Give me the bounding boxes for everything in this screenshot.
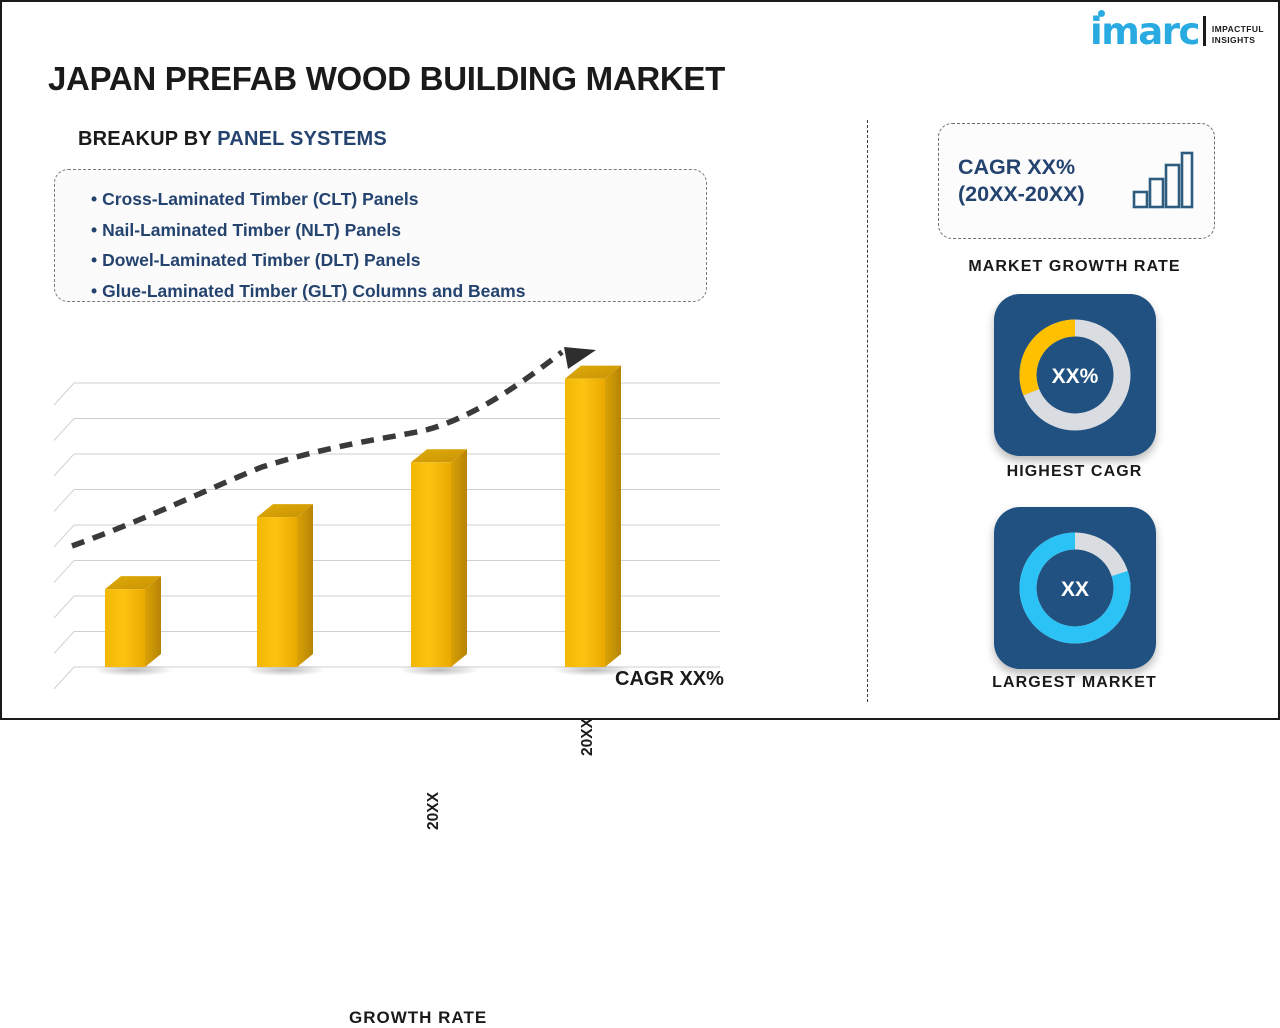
largest-market-caption: LARGEST MARKET bbox=[867, 674, 1280, 692]
segment-list-box: •Cross-Laminated Timber (CLT) Panels •Na… bbox=[54, 169, 707, 302]
cagr-line2: (20XX-20XX) bbox=[958, 181, 1085, 208]
growth-rate-chart: CAGR XX% GROWTH RATE 20XX 20XX bbox=[2, 327, 802, 722]
logo-tagline-line1: IMPACTFUL bbox=[1212, 24, 1264, 35]
trend-arrow-icon bbox=[72, 347, 596, 546]
breakup-heading: BREAKUP BY PANEL SYSTEMS bbox=[78, 128, 387, 151]
cagr-line1: CAGR XX% bbox=[958, 154, 1085, 181]
logo-wordmark: imarc bbox=[1090, 14, 1199, 49]
list-item-label: Glue-Laminated Timber (GLT) Columns and … bbox=[102, 281, 525, 301]
chart-svg bbox=[2, 327, 802, 722]
largest-market-value: XX bbox=[994, 578, 1156, 602]
logo-dot-icon bbox=[1098, 10, 1105, 17]
market-growth-rate-caption: MARKET GROWTH RATE bbox=[867, 258, 1280, 276]
chart-cagr-annotation: CAGR XX% bbox=[615, 668, 724, 691]
list-item-label: Nail-Laminated Timber (NLT) Panels bbox=[102, 220, 401, 240]
bar-label-3: 20XX bbox=[425, 790, 443, 830]
list-item: •Glue-Laminated Timber (GLT) Columns and… bbox=[91, 276, 706, 307]
bar-chart-icon bbox=[1132, 151, 1194, 214]
largest-market-card: XX bbox=[994, 507, 1156, 669]
logo-text: imarc bbox=[1090, 10, 1199, 53]
list-item: •Cross-Laminated Timber (CLT) Panels bbox=[91, 184, 706, 215]
list-item-label: Cross-Laminated Timber (CLT) Panels bbox=[102, 189, 418, 209]
bullet-icon: • bbox=[91, 189, 97, 209]
highest-cagr-caption: HIGHEST CAGR bbox=[867, 463, 1280, 481]
bullet-icon: • bbox=[91, 281, 97, 301]
panel-divider bbox=[867, 120, 868, 702]
imarc-logo: imarc IMPACTFUL INSIGHTS bbox=[1090, 14, 1264, 49]
bullet-icon: • bbox=[91, 220, 97, 240]
page-title: JAPAN PREFAB WOOD BUILDING MARKET bbox=[48, 60, 725, 98]
chart-x-axis-label: GROWTH RATE bbox=[349, 1008, 487, 1028]
bar-label-4: 20XX bbox=[579, 716, 597, 756]
list-item: •Dowel-Laminated Timber (DLT) Panels bbox=[91, 245, 706, 276]
list-item-label: Dowel-Laminated Timber (DLT) Panels bbox=[102, 250, 420, 270]
logo-tagline: IMPACTFUL INSIGHTS bbox=[1212, 24, 1264, 49]
list-item: •Nail-Laminated Timber (NLT) Panels bbox=[91, 215, 706, 246]
cagr-text: CAGR XX% (20XX-20XX) bbox=[958, 154, 1085, 208]
breakup-segment-name: PANEL SYSTEMS bbox=[217, 128, 387, 150]
logo-tagline-line2: INSIGHTS bbox=[1212, 35, 1264, 46]
highest-cagr-card: XX% bbox=[994, 294, 1156, 456]
market-growth-rate-box: CAGR XX% (20XX-20XX) bbox=[938, 123, 1215, 239]
logo-divider bbox=[1203, 16, 1206, 46]
highest-cagr-value: XX% bbox=[994, 365, 1156, 389]
chart-bars bbox=[93, 366, 633, 676]
breakup-prefix: BREAKUP BY bbox=[78, 128, 217, 150]
bullet-icon: • bbox=[91, 250, 97, 270]
infographic-page: imarc IMPACTFUL INSIGHTS JAPAN PREFAB WO… bbox=[0, 0, 1280, 720]
